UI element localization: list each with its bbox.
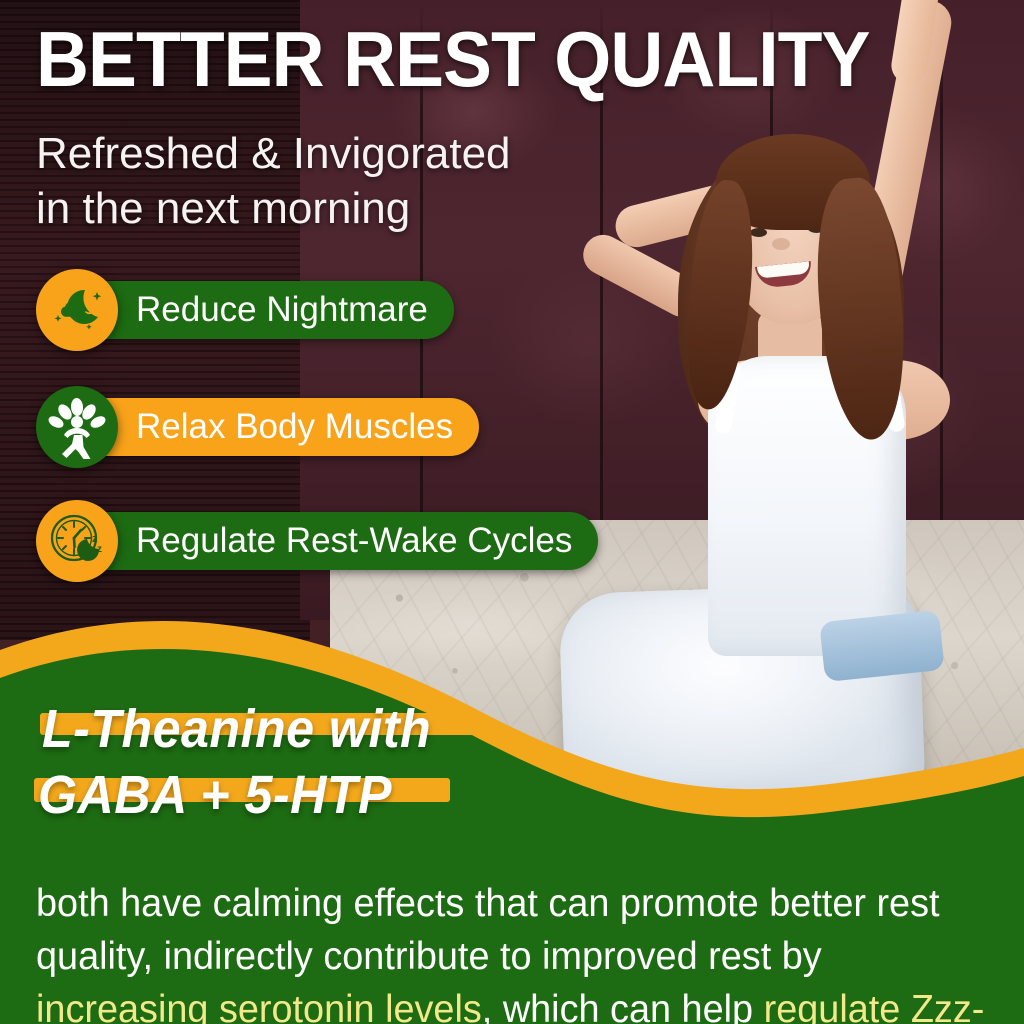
benefit-pill[interactable]: Relax Body Muscles	[76, 398, 479, 456]
clock-zzz-icon: z z z	[36, 500, 118, 582]
person-tree-icon	[36, 386, 118, 468]
benefit-label: Relax Body Muscles	[136, 407, 453, 447]
subtitle-line-1: Refreshed & Invigorated	[36, 126, 636, 181]
svg-text:z: z	[97, 544, 102, 555]
nose	[772, 238, 790, 250]
benefit-item-relax-body-muscles[interactable]: Relax Body Muscles	[36, 398, 479, 456]
svg-text:z: z	[89, 546, 94, 556]
benefit-pill[interactable]: Reduce Nightmare	[76, 281, 454, 339]
eye-left	[750, 228, 767, 237]
body-seg-2: , which can help	[482, 988, 764, 1024]
benefit-pill[interactable]: Regulate Rest-Wake Cycles	[76, 512, 598, 570]
body-copy: both have calming effects that can promo…	[36, 877, 991, 1024]
benefit-item-regulate-rest-wake-cycles[interactable]: Regulate Rest-Wake Cycles	[36, 512, 598, 570]
benefit-item-reduce-nightmare[interactable]: Reduce Nightmare	[36, 281, 454, 339]
subtitle-line-2: in the next morning	[36, 181, 636, 236]
page-title: BETTER REST QUALITY	[36, 16, 863, 102]
sleeping-moon-cloud-icon	[36, 269, 118, 351]
benefit-label: Reduce Nightmare	[136, 290, 428, 330]
body-highlight-1: increasing serotonin levels	[36, 988, 482, 1024]
ingredient-line-1: L-Theanine with	[42, 700, 431, 758]
product-infographic-poster: BETTER REST QUALITY Refreshed & Invigora…	[0, 0, 1024, 1024]
subtitle: Refreshed & Invigorated in the next morn…	[36, 126, 636, 236]
benefit-label: Regulate Rest-Wake Cycles	[136, 521, 572, 561]
body-seg-1: both have calming effects that can promo…	[36, 882, 940, 978]
ingredient-line-2: GABA + 5-HTP	[38, 766, 392, 824]
